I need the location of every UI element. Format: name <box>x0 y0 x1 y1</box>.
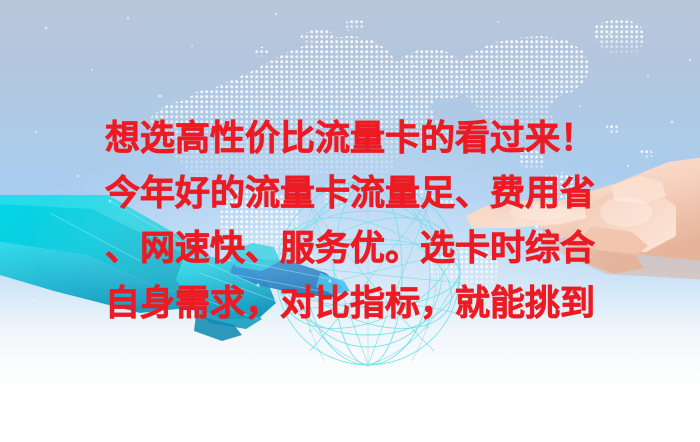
promo-banner: 想选高性价比流量卡的看过来！ 今年好的流量卡流量足、费用省 、网速快、服务优。选… <box>0 0 700 442</box>
world-map-dots-background <box>0 0 700 442</box>
